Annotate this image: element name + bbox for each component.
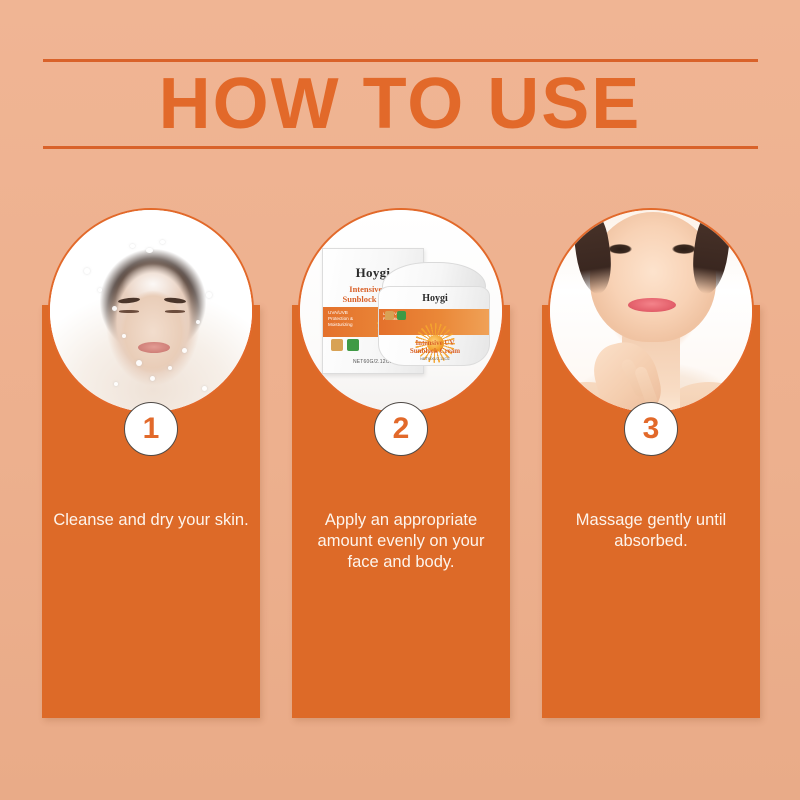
massage-neck-image: [550, 210, 752, 412]
jar-cert-badge-gold: [385, 311, 394, 320]
jar-net-weight: NET60G/2.12OZ: [379, 356, 490, 361]
step-photo-2: Hoygi Intensive UV Sunblock Cream UVA/UV…: [298, 208, 504, 414]
how-to-use-poster: HOW TO USE: [0, 0, 800, 800]
product-jar: Hoygi UVA/UVB Protection: [378, 262, 490, 366]
jar-certification-badges: [385, 311, 406, 320]
cert-badge-gold: [331, 339, 343, 351]
step-photo-3: [548, 208, 754, 414]
step-card-1: 1 Cleanse and dry your skin.: [42, 180, 260, 740]
jar-body: Hoygi UVA/UVB Protection: [378, 286, 490, 366]
steps-container: 1 Cleanse and dry your skin. Hoygi Inten…: [0, 180, 800, 800]
carton-certification-badges: [331, 339, 359, 351]
step-caption-1: Cleanse and dry your skin.: [50, 510, 252, 531]
hair-right: [688, 208, 733, 296]
step-card-2: Hoygi Intensive UV Sunblock Cream UVA/UV…: [292, 180, 510, 740]
step-caption-2: Apply an appropriate amount evenly on yo…: [300, 510, 502, 573]
jar-brand: Hoygi: [379, 293, 490, 304]
jar-cert-badge-green: [397, 311, 406, 320]
page-title: HOW TO USE: [0, 62, 800, 146]
eye-right: [165, 310, 185, 313]
step-caption-3: Massage gently until absorbed.: [550, 510, 752, 552]
jar-name-line1: Intensive UV: [415, 339, 454, 347]
step-card-3: 3 Massage gently until absorbed.: [542, 180, 760, 740]
cleanse-face-image: [50, 210, 252, 412]
step-number-badge-3: 3: [624, 402, 678, 456]
cert-badge-green: [347, 339, 359, 351]
carton-band-text: UVA/UVB Protection & Moisturizing: [328, 310, 368, 328]
step-number-badge-2: 2: [374, 402, 428, 456]
poster-header: HOW TO USE: [0, 0, 800, 180]
product-image: Hoygi Intensive UV Sunblock Cream UVA/UV…: [300, 210, 502, 412]
lips: [138, 342, 170, 353]
jar-product-name: Intensive UV Sunblock Cream: [379, 339, 490, 355]
title-rule-bottom: [43, 146, 758, 149]
lips: [628, 298, 676, 312]
face-shape: [96, 266, 210, 386]
jar-name-line2: Sunblock Cream: [410, 347, 460, 355]
eye-right: [672, 244, 696, 254]
step-number-badge-1: 1: [124, 402, 178, 456]
step-photo-1: [48, 208, 254, 414]
eye-left: [608, 244, 632, 254]
eye-left: [119, 310, 139, 313]
